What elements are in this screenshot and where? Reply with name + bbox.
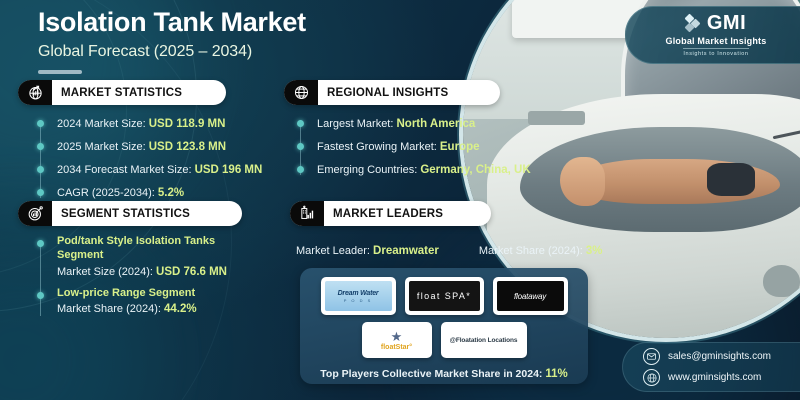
logo-subtext: P O D S bbox=[344, 298, 373, 303]
globe-chart-icon bbox=[18, 80, 52, 105]
stat-value: Europe bbox=[440, 141, 480, 153]
section-header-market-leaders: MARKET LEADERS bbox=[290, 201, 491, 226]
segment-metric: Market Share (2024): 44.2% bbox=[57, 303, 242, 315]
stat-label: Largest Market: bbox=[317, 118, 396, 130]
stat-value: North America bbox=[396, 118, 475, 130]
gmi-tagline: Insights to Innovation bbox=[683, 48, 748, 57]
gmi-logo-text: GMI bbox=[707, 13, 746, 33]
envelope-icon bbox=[643, 348, 660, 365]
company-logo-floatspa: float SPA* bbox=[405, 277, 484, 315]
stat-label: Fastest Growing Market: bbox=[317, 141, 440, 153]
section-title-segment-statistics: SEGMENT STATISTICS bbox=[61, 208, 190, 220]
logo-text: floataway bbox=[514, 292, 546, 301]
segment-metric-label: Market Size (2024): bbox=[57, 266, 156, 278]
segment-block: Low-price Range Segment Market Share (20… bbox=[40, 287, 242, 316]
stat-row: 2034 Forecast Market Size: USD 196 MN bbox=[40, 160, 262, 178]
market-share-label: Market Share (2024): bbox=[479, 245, 586, 257]
market-statistics-list: 2024 Market Size: USD 118.9 MN 2025 Mark… bbox=[40, 114, 262, 206]
stat-row: Emerging Countries: Germany, China, UK bbox=[300, 160, 531, 178]
factory-chart-icon bbox=[290, 201, 324, 226]
globe-icon bbox=[284, 80, 318, 105]
section-title-regional-insights: REGIONAL INSIGHTS bbox=[327, 87, 448, 99]
section-title-market-leaders: MARKET LEADERS bbox=[333, 208, 443, 220]
stat-value: USD 123.8 MN bbox=[149, 141, 226, 153]
logo-text: float SPA* bbox=[417, 291, 471, 301]
market-leaders-logo-card: Dream Water P O D S float SPA* floataway… bbox=[300, 268, 588, 384]
regional-insights-list: Largest Market: North America Fastest Gr… bbox=[300, 114, 531, 183]
section-title-market-statistics: MARKET STATISTICS bbox=[61, 87, 182, 99]
company-logo-floataway: floataway bbox=[493, 277, 568, 315]
stat-label: Emerging Countries: bbox=[317, 164, 420, 176]
stat-label: CAGR (2025-2034): bbox=[57, 187, 158, 199]
stat-row: 2024 Market Size: USD 118.9 MN bbox=[40, 114, 262, 132]
market-share-value: 3% bbox=[586, 245, 603, 257]
market-leader-summary: Market Leader: Dreamwater Market Share (… bbox=[296, 240, 592, 262]
stat-value: Germany, China, UK bbox=[420, 164, 530, 176]
star-icon: ★ bbox=[391, 330, 403, 343]
stat-value: 5.2% bbox=[158, 187, 184, 199]
segment-title: Pod/tank Style Isolation Tanks Segment bbox=[57, 235, 242, 263]
bullet-dot-icon bbox=[37, 120, 44, 127]
contact-email-row[interactable]: sales@gminsights.com bbox=[643, 348, 800, 365]
collective-share-line: Top Players Collective Market Share in 2… bbox=[300, 368, 588, 380]
market-leader-value: Dreamwater bbox=[373, 245, 439, 257]
bullet-dot-icon bbox=[297, 120, 304, 127]
company-logo-dreamwater: Dream Water P O D S bbox=[321, 277, 396, 315]
segment-metric: Market Size (2024): USD 76.6 MN bbox=[57, 266, 242, 278]
segment-metric-value: USD 76.6 MN bbox=[156, 266, 227, 278]
page-subtitle: Global Forecast (2025 – 2034) bbox=[38, 43, 306, 61]
section-header-regional-insights: REGIONAL INSIGHTS bbox=[284, 80, 500, 105]
stat-value: USD 118.9 MN bbox=[149, 118, 226, 130]
market-leader-text: Market Leader: Dreamwater bbox=[296, 245, 439, 257]
stat-value: USD 196 MN bbox=[195, 164, 263, 176]
stat-label: 2025 Market Size: bbox=[57, 141, 149, 153]
stat-row: CAGR (2025-2034): 5.2% bbox=[40, 183, 262, 201]
segment-metric-label: Market Share (2024): bbox=[57, 303, 164, 315]
bullet-dot-icon bbox=[297, 166, 304, 173]
company-logo-floatstar: ★ floatStar° bbox=[362, 322, 432, 358]
header: Isolation Tank Market Global Forecast (2… bbox=[38, 8, 306, 74]
segment-block: Pod/tank Style Isolation Tanks Segment M… bbox=[40, 235, 242, 278]
stat-row: 2025 Market Size: USD 123.8 MN bbox=[40, 137, 262, 155]
logo-text: @Floatation Locations bbox=[450, 337, 518, 344]
section-header-market-statistics: MARKET STATISTICS bbox=[18, 80, 226, 105]
page-title: Isolation Tank Market bbox=[38, 8, 306, 38]
stat-row: Fastest Growing Market: Europe bbox=[300, 137, 531, 155]
bullet-dot-icon bbox=[37, 189, 44, 196]
title-underline bbox=[38, 70, 82, 74]
bullet-dot-icon bbox=[37, 292, 44, 299]
gmi-full-name: Global Market Insights bbox=[666, 36, 767, 46]
segment-title: Low-price Range Segment bbox=[57, 287, 242, 301]
company-logo-floatation-locations: @Floatation Locations bbox=[441, 322, 527, 358]
contact-website-row[interactable]: www.gminsights.com bbox=[643, 369, 800, 386]
logo-row: Dream Water P O D S float SPA* floataway bbox=[300, 277, 588, 315]
collective-share-label: Top Players Collective Market Share in 2… bbox=[320, 368, 545, 380]
stat-row: Largest Market: North America bbox=[300, 114, 531, 132]
contact-panel: sales@gminsights.com www.gminsights.com bbox=[622, 342, 800, 392]
logo-row: ★ floatStar° @Floatation Locations bbox=[300, 322, 588, 358]
bullet-dot-icon bbox=[37, 166, 44, 173]
target-chart-icon bbox=[18, 201, 52, 226]
section-header-segment-statistics: SEGMENT STATISTICS bbox=[18, 201, 242, 226]
infographic-canvas: GMI Global Market Insights Insights to I… bbox=[0, 0, 800, 400]
globe-icon bbox=[643, 369, 660, 386]
gmi-logo-badge: GMI Global Market Insights Insights to I… bbox=[625, 6, 800, 64]
gmi-diamond-icon bbox=[686, 15, 702, 31]
market-leader-label: Market Leader: bbox=[296, 245, 373, 257]
stat-label: 2034 Forecast Market Size: bbox=[57, 164, 195, 176]
logo-text: floatStar° bbox=[381, 344, 412, 351]
bullet-dot-icon bbox=[37, 240, 44, 247]
bullet-dot-icon bbox=[37, 143, 44, 150]
contact-website[interactable]: www.gminsights.com bbox=[668, 372, 761, 383]
contact-email[interactable]: sales@gminsights.com bbox=[668, 351, 771, 362]
stat-label: 2024 Market Size: bbox=[57, 118, 149, 130]
bullet-dot-icon bbox=[297, 143, 304, 150]
market-share-text: Market Share (2024): 3% bbox=[479, 245, 603, 257]
collective-share-value: 11% bbox=[545, 368, 567, 380]
segment-metric-value: 44.2% bbox=[164, 303, 197, 315]
segment-statistics-list: Pod/tank Style Isolation Tanks Segment M… bbox=[40, 235, 242, 324]
logo-text: Dream Water bbox=[338, 290, 379, 297]
